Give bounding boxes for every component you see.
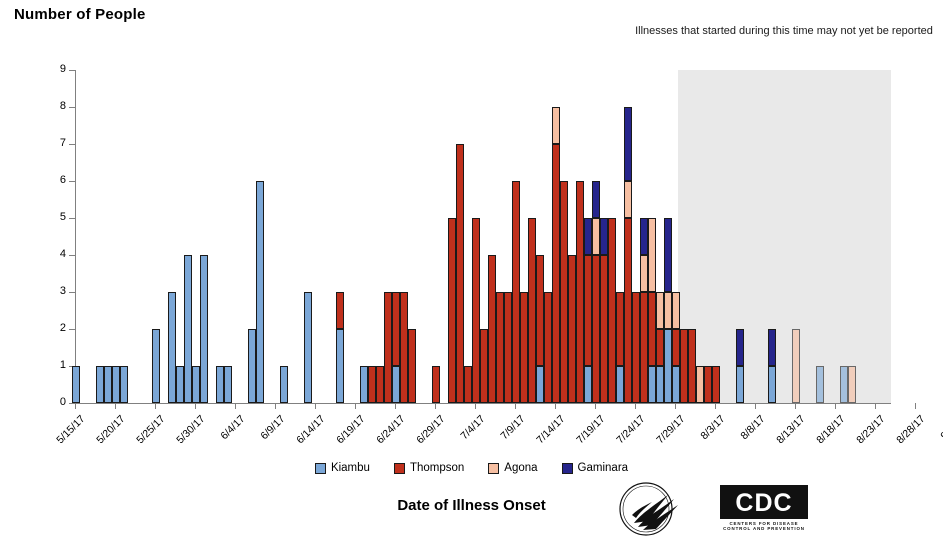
bar-7-8-17 xyxy=(504,292,511,403)
x-tick xyxy=(555,403,556,409)
bar-segment-kiambu xyxy=(536,366,543,403)
x-tick-label: 7/14/17 xyxy=(534,413,567,446)
x-tick-label: 7/29/17 xyxy=(654,413,687,446)
bar-6-21-17 xyxy=(368,366,375,403)
bar-7-15-17 xyxy=(560,181,567,403)
bar-7-3-17 xyxy=(464,366,471,403)
svg-text:CONTROL AND PREVENTION: CONTROL AND PREVENTION xyxy=(723,526,805,531)
x-tick-label: 6/14/17 xyxy=(294,413,327,446)
y-tick xyxy=(69,144,75,145)
bar-segment-kiambu xyxy=(648,366,655,403)
bar-6-29-17 xyxy=(432,366,439,403)
bar-segment-thompson xyxy=(488,255,495,403)
bar-segment-kiambu xyxy=(280,366,287,403)
x-tick xyxy=(115,403,116,409)
bar-8-10-17 xyxy=(768,329,775,403)
bar-7-9-17 xyxy=(512,181,519,403)
x-tick-label: 5/20/17 xyxy=(94,413,127,446)
bar-7-13-17 xyxy=(544,292,551,403)
bar-segment-kiambu xyxy=(200,255,207,403)
bar-segment-kiambu xyxy=(192,366,199,403)
bar-segment-kiambu xyxy=(816,366,823,403)
bar-segment-agona xyxy=(792,329,799,403)
plot-area: 0123456789 5/15/175/20/175/25/175/30/176… xyxy=(75,70,891,403)
cdc-logo-icon: CDC CENTERS FOR DISEASE CONTROL AND PREV… xyxy=(720,485,808,531)
bar-segment-kiambu xyxy=(840,366,847,403)
legend: KiambuThompsonAgonaGaminara xyxy=(0,462,943,474)
bar-7-2-17 xyxy=(456,144,463,403)
bar-7-6-17 xyxy=(488,255,495,403)
bar-6-20-17 xyxy=(360,366,367,403)
bar-6-2-17 xyxy=(216,366,223,403)
bar-segment-thompson xyxy=(584,255,591,366)
bar-7-26-17 xyxy=(648,218,655,403)
x-tick-label: 6/19/17 xyxy=(334,413,367,446)
bar-segment-agona xyxy=(648,218,655,292)
y-tick-label: 3 xyxy=(60,286,66,297)
bar-8-6-17 xyxy=(736,329,743,403)
bar-segment-kiambu xyxy=(768,366,775,403)
x-tick-label: 7/24/17 xyxy=(614,413,647,446)
bar-segment-kiambu xyxy=(176,366,183,403)
bar-7-17-17 xyxy=(576,181,583,403)
bar-7-1-17 xyxy=(448,218,455,403)
bar-segment-kiambu xyxy=(152,329,159,403)
bar-7-16-17 xyxy=(568,255,575,403)
bar-segment-thompson xyxy=(448,218,455,403)
x-tick xyxy=(75,403,76,409)
bar-segment-thompson xyxy=(656,329,663,366)
bar-8-20-17 xyxy=(848,366,855,403)
bar-segment-thompson xyxy=(480,329,487,403)
bar-segment-thompson xyxy=(560,181,567,403)
bar-segment-kiambu xyxy=(336,329,343,403)
bar-segment-thompson xyxy=(712,366,719,403)
bar-7-30-17 xyxy=(680,329,687,403)
bar-segment-thompson xyxy=(536,255,543,366)
x-tick xyxy=(635,403,636,409)
bar-segment-gaminara xyxy=(624,107,631,181)
x-tick-label: 5/25/17 xyxy=(134,413,167,446)
bar-5-30-17 xyxy=(192,366,199,403)
y-tick-label: 9 xyxy=(60,64,66,75)
legend-label: Gaminara xyxy=(578,462,629,474)
bar-segment-gaminara xyxy=(592,181,599,218)
bar-segment-kiambu xyxy=(120,366,127,403)
bar-5-25-17 xyxy=(152,329,159,403)
x-tick xyxy=(835,403,836,409)
x-axis-line xyxy=(75,403,891,404)
bar-8-13-17 xyxy=(792,329,799,403)
y-tick-label: 8 xyxy=(60,101,66,112)
x-tick xyxy=(475,403,476,409)
x-tick-label: 7/19/17 xyxy=(574,413,607,446)
bar-8-3-17 xyxy=(712,366,719,403)
bar-segment-thompson xyxy=(464,366,471,403)
legend-swatch-icon xyxy=(315,463,326,474)
bar-segment-kiambu xyxy=(256,181,263,403)
y-tick xyxy=(69,70,75,71)
bar-segment-thompson xyxy=(592,255,599,403)
y-tick xyxy=(69,329,75,330)
x-tick xyxy=(315,403,316,409)
bar-segment-thompson xyxy=(704,366,711,403)
bar-segment-thompson xyxy=(680,329,687,403)
bar-5-19-17 xyxy=(104,366,111,403)
bar-segment-kiambu xyxy=(184,255,191,403)
x-tick-label: 8/18/17 xyxy=(814,413,847,446)
bar-segment-thompson xyxy=(336,292,343,329)
x-tick-label: 6/4/17 xyxy=(218,413,247,442)
x-tick xyxy=(355,403,356,409)
bar-segment-thompson xyxy=(688,329,695,403)
x-tick xyxy=(515,403,516,409)
bar-segment-agona xyxy=(848,366,855,403)
bar-7-29-17 xyxy=(672,292,679,403)
bar-segment-kiambu xyxy=(392,366,399,403)
bar-segment-thompson xyxy=(392,292,399,366)
bar-7-27-17 xyxy=(656,292,663,403)
bar-segment-gaminara xyxy=(600,218,607,255)
bar-segment-thompson xyxy=(400,292,407,403)
bar-segment-thompson xyxy=(456,144,463,403)
bar-segment-thompson xyxy=(608,218,615,403)
y-tick-label: 1 xyxy=(60,360,66,371)
bar-segment-gaminara xyxy=(664,218,671,292)
x-tick-label: 8/3/17 xyxy=(698,413,727,442)
bar-segment-thompson xyxy=(520,292,527,403)
bar-segment-agona xyxy=(592,218,599,255)
bar-segment-kiambu xyxy=(248,329,255,403)
bar-segment-agona xyxy=(664,292,671,329)
bar-5-20-17 xyxy=(112,366,119,403)
bar-segment-thompson xyxy=(600,255,607,403)
bar-segment-thompson xyxy=(528,218,535,403)
bar-segment-gaminara xyxy=(768,329,775,366)
bar-7-10-17 xyxy=(520,292,527,403)
x-tick xyxy=(715,403,716,409)
legend-swatch-icon xyxy=(488,463,499,474)
bar-segment-kiambu xyxy=(96,366,103,403)
x-tick-label: 6/9/17 xyxy=(258,413,287,442)
y-tick xyxy=(69,255,75,256)
y-tick-label: 0 xyxy=(60,397,66,408)
legend-item-kiambu: Kiambu xyxy=(315,462,370,474)
bar-segment-thompson xyxy=(432,366,439,403)
bar-6-24-17 xyxy=(392,292,399,403)
bar-6-7-17 xyxy=(256,181,263,403)
bar-segment-gaminara xyxy=(584,218,591,255)
bar-6-25-17 xyxy=(400,292,407,403)
bar-7-22-17 xyxy=(616,292,623,403)
bar-segment-kiambu xyxy=(216,366,223,403)
x-tick xyxy=(275,403,276,409)
svg-text:CDC: CDC xyxy=(735,489,792,517)
bar-segment-agona xyxy=(696,366,703,403)
bar-7-7-17 xyxy=(496,292,503,403)
bar-segment-thompson xyxy=(408,329,415,403)
incomplete-reporting-shading xyxy=(678,70,891,403)
y-tick-label: 5 xyxy=(60,212,66,223)
bar-segment-kiambu xyxy=(584,366,591,403)
bar-7-23-17 xyxy=(624,107,631,403)
bar-8-1-17 xyxy=(696,366,703,403)
bar-7-19-17 xyxy=(592,181,599,403)
legend-swatch-icon xyxy=(562,463,573,474)
bar-7-18-17 xyxy=(584,218,591,403)
bar-segment-thompson xyxy=(576,181,583,403)
x-tick-label: 8/23/17 xyxy=(854,413,887,446)
bar-segment-thompson xyxy=(616,292,623,366)
x-tick-label: 9/2/17 xyxy=(938,413,943,442)
bar-segment-agona xyxy=(624,181,631,218)
legend-item-agona: Agona xyxy=(488,462,537,474)
legend-label: Kiambu xyxy=(331,462,370,474)
bar-segment-thompson xyxy=(544,292,551,403)
bar-segment-thompson xyxy=(552,144,559,403)
bar-8-19-17 xyxy=(840,366,847,403)
bar-5-18-17 xyxy=(96,366,103,403)
bar-segment-agona xyxy=(640,255,647,292)
y-tick-label: 7 xyxy=(60,138,66,149)
bar-segment-thompson xyxy=(568,255,575,403)
bar-segment-agona xyxy=(656,292,663,329)
y-tick xyxy=(69,181,75,182)
bar-segment-kiambu xyxy=(168,292,175,403)
legend-item-thompson: Thompson xyxy=(394,462,464,474)
bar-segment-thompson xyxy=(672,329,679,366)
bar-5-31-17 xyxy=(200,255,207,403)
x-tick-label: 7/4/17 xyxy=(458,413,487,442)
bar-segment-kiambu xyxy=(224,366,231,403)
y-tick xyxy=(69,292,75,293)
bar-7-25-17 xyxy=(640,218,647,403)
bar-segment-kiambu xyxy=(736,366,743,403)
bar-6-3-17 xyxy=(224,366,231,403)
hhs-seal-icon xyxy=(612,481,692,537)
bar-7-14-17 xyxy=(552,107,559,403)
legend-swatch-icon xyxy=(394,463,405,474)
bar-segment-thompson xyxy=(472,218,479,403)
x-tick xyxy=(155,403,156,409)
legend-label: Agona xyxy=(504,462,537,474)
bar-segment-kiambu xyxy=(304,292,311,403)
x-tick xyxy=(915,403,916,409)
bar-segment-agona xyxy=(672,292,679,329)
bar-6-23-17 xyxy=(384,292,391,403)
bar-7-20-17 xyxy=(600,218,607,403)
x-tick-label: 8/13/17 xyxy=(774,413,807,446)
y-tick xyxy=(69,107,75,108)
x-tick xyxy=(395,403,396,409)
bar-segment-thompson xyxy=(624,218,631,403)
bar-7-5-17 xyxy=(480,329,487,403)
bar-6-10-17 xyxy=(280,366,287,403)
bar-segment-kiambu xyxy=(104,366,111,403)
bar-segment-thompson xyxy=(648,292,655,366)
bar-6-26-17 xyxy=(408,329,415,403)
x-tick xyxy=(595,403,596,409)
bar-segment-kiambu xyxy=(672,366,679,403)
x-tick-label: 5/30/17 xyxy=(174,413,207,446)
bar-7-11-17 xyxy=(528,218,535,403)
legend-label: Thompson xyxy=(410,462,464,474)
x-tick-label: 7/9/17 xyxy=(498,413,527,442)
x-tick-label: 8/28/17 xyxy=(894,413,927,446)
bar-5-29-17 xyxy=(184,255,191,403)
epi-curve-figure: Number of People Illnesses that started … xyxy=(0,0,943,541)
bar-segment-thompson xyxy=(496,292,503,403)
bar-6-13-17 xyxy=(304,292,311,403)
agency-logos: CDC CENTERS FOR DISEASE CONTROL AND PREV… xyxy=(612,481,812,537)
x-tick xyxy=(875,403,876,409)
x-tick-label: 6/29/17 xyxy=(414,413,447,446)
x-tick xyxy=(195,403,196,409)
bar-6-22-17 xyxy=(376,366,383,403)
bar-7-21-17 xyxy=(608,218,615,403)
bar-segment-gaminara xyxy=(736,329,743,366)
y-axis-line xyxy=(75,70,76,403)
x-tick xyxy=(435,403,436,409)
bar-segment-kiambu xyxy=(360,366,367,403)
bar-6-17-17 xyxy=(336,292,343,403)
x-tick xyxy=(675,403,676,409)
y-tick-label: 6 xyxy=(60,175,66,186)
bar-5-28-17 xyxy=(176,366,183,403)
bar-7-4-17 xyxy=(472,218,479,403)
bar-7-28-17 xyxy=(664,218,671,403)
bar-segment-thompson xyxy=(504,292,511,403)
y-tick-label: 2 xyxy=(60,323,66,334)
bar-segment-kiambu xyxy=(616,366,623,403)
bar-segment-thompson xyxy=(376,366,383,403)
x-tick xyxy=(795,403,796,409)
bar-segment-thompson xyxy=(640,292,647,403)
bar-segment-kiambu xyxy=(656,366,663,403)
x-tick-label: 5/15/17 xyxy=(54,413,87,446)
bar-segment-kiambu xyxy=(72,366,79,403)
bar-segment-thompson xyxy=(384,292,391,403)
x-tick xyxy=(235,403,236,409)
legend-item-gaminara: Gaminara xyxy=(562,462,629,474)
bar-segment-thompson xyxy=(368,366,375,403)
y-axis-title: Number of People xyxy=(14,6,146,23)
bar-7-24-17 xyxy=(632,292,639,403)
bar-segment-kiambu xyxy=(112,366,119,403)
bar-segment-gaminara xyxy=(640,218,647,255)
bar-7-12-17 xyxy=(536,255,543,403)
bar-7-31-17 xyxy=(688,329,695,403)
bar-6-6-17 xyxy=(248,329,255,403)
x-tick-label: 8/8/17 xyxy=(738,413,767,442)
y-tick-label: 4 xyxy=(60,249,66,260)
bar-segment-agona xyxy=(552,107,559,144)
x-tick xyxy=(755,403,756,409)
bar-segment-thompson xyxy=(632,292,639,403)
bar-5-27-17 xyxy=(168,292,175,403)
bar-8-16-17 xyxy=(816,366,823,403)
y-tick xyxy=(69,218,75,219)
incomplete-reporting-note: Illnesses that started during this time … xyxy=(629,24,939,39)
bar-5-21-17 xyxy=(120,366,127,403)
bar-8-2-17 xyxy=(704,366,711,403)
bar-segment-kiambu xyxy=(664,329,671,403)
x-tick-label: 6/24/17 xyxy=(374,413,407,446)
bar-segment-thompson xyxy=(512,181,519,403)
bar-5-15-17 xyxy=(72,366,79,403)
